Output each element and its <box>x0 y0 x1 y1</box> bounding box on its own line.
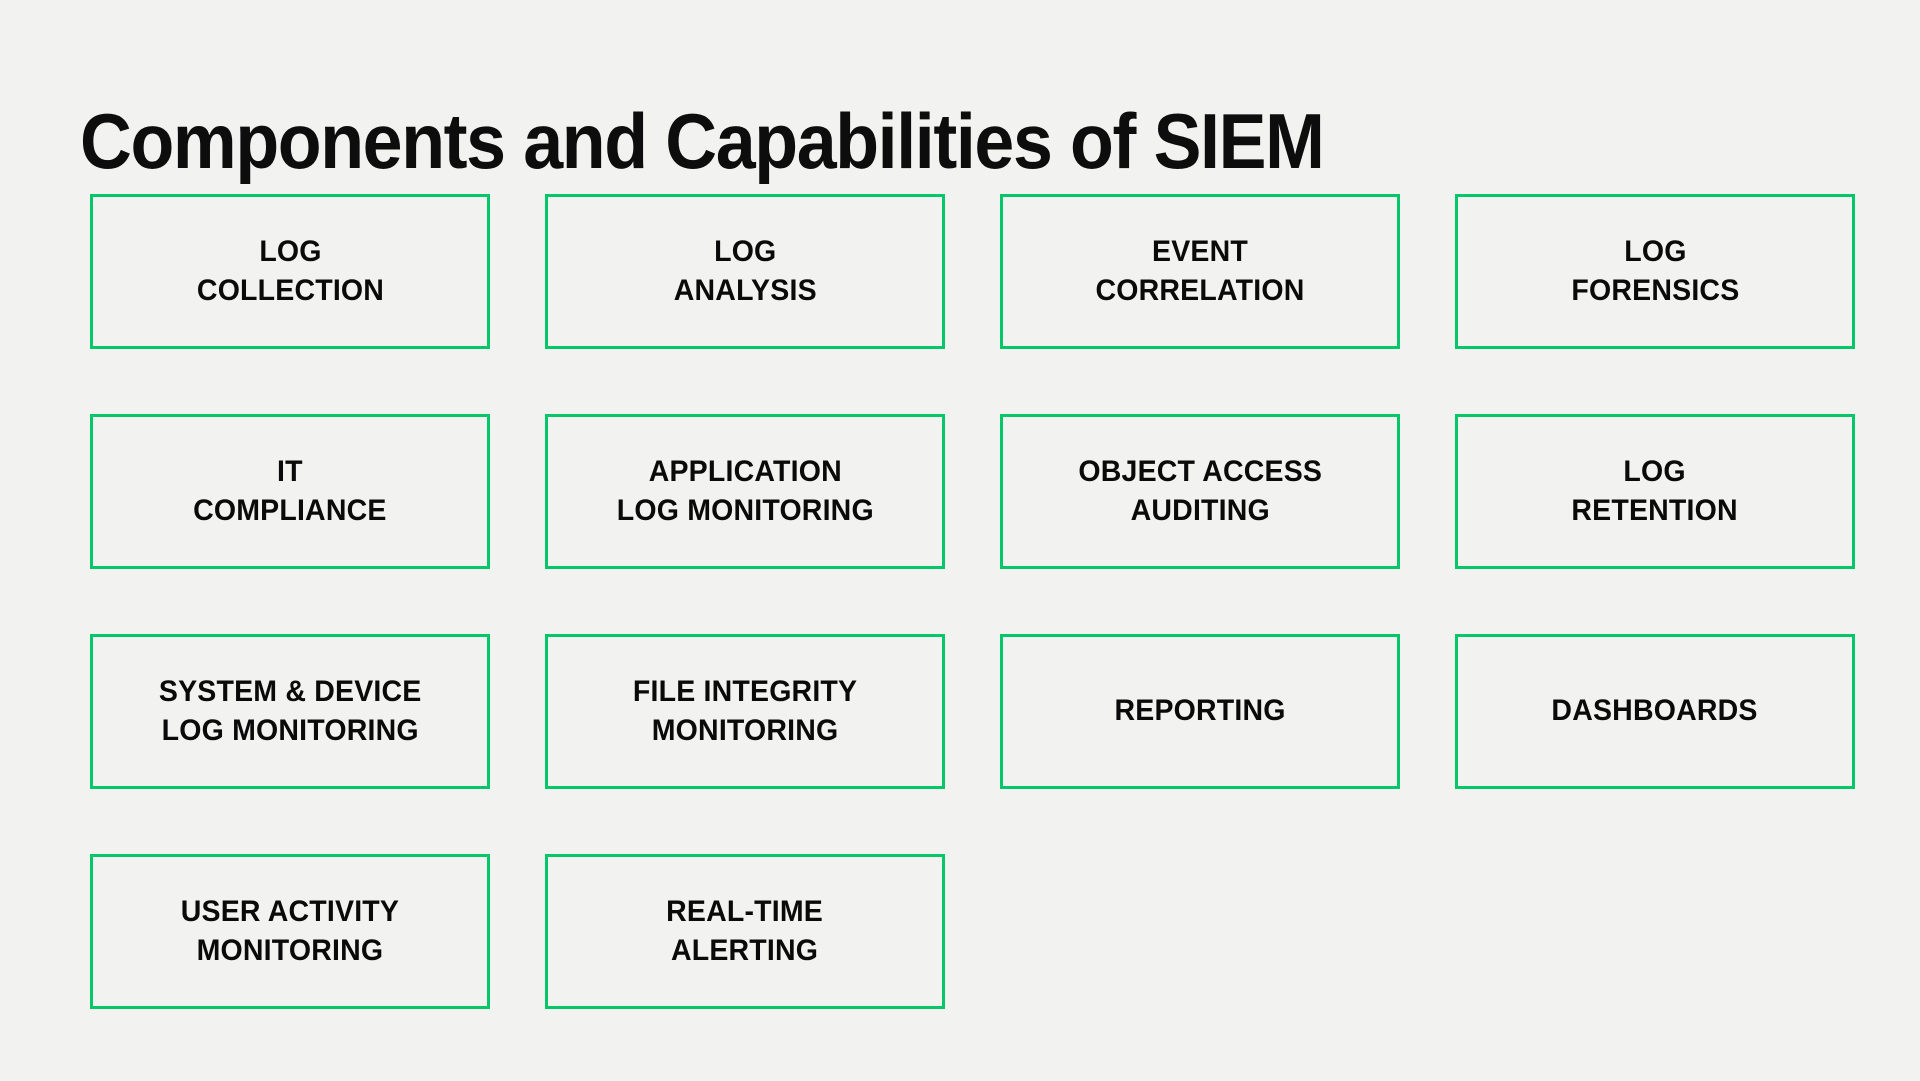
capability-box-dashboards[interactable]: DASHBOARDS <box>1455 634 1855 789</box>
capability-box-user-activity-monitoring[interactable]: USER ACTIVITY MONITORING <box>90 854 490 1009</box>
capability-label: DASHBOARDS <box>1552 692 1758 730</box>
capability-box-system-and-device-log-monitoring[interactable]: SYSTEM & DEVICE LOG MONITORING <box>90 634 490 789</box>
grid-empty-slot <box>1000 854 1400 1009</box>
capability-label: LOG RETENTION <box>1572 453 1738 530</box>
capability-box-event-correlation[interactable]: EVENT CORRELATION <box>1000 194 1400 349</box>
capability-label: IT COMPLIANCE <box>193 453 386 530</box>
capability-box-object-access-auditing[interactable]: OBJECT ACCESS AUDITING <box>1000 414 1400 569</box>
capability-label: LOG ANALYSIS <box>673 233 816 310</box>
capability-label: USER ACTIVITY MONITORING <box>181 893 399 970</box>
capability-box-log-analysis[interactable]: LOG ANALYSIS <box>545 194 945 349</box>
capability-label: LOG FORENSICS <box>1571 233 1739 310</box>
capability-box-file-integrity-monitoring[interactable]: FILE INTEGRITY MONITORING <box>545 634 945 789</box>
capability-label: REPORTING <box>1114 692 1285 730</box>
capability-label: FILE INTEGRITY MONITORING <box>633 673 857 750</box>
capability-box-application-log-monitoring[interactable]: APPLICATION LOG MONITORING <box>545 414 945 569</box>
capability-label: OBJECT ACCESS AUDITING <box>1078 453 1322 530</box>
capability-box-log-retention[interactable]: LOG RETENTION <box>1455 414 1855 569</box>
capability-box-real-time-alerting[interactable]: REAL-TIME ALERTING <box>545 854 945 1009</box>
capability-box-it-compliance[interactable]: IT COMPLIANCE <box>90 414 490 569</box>
siem-components-diagram: Components and Capabilities of SIEM LOG … <box>0 0 1920 1081</box>
capability-box-reporting[interactable]: REPORTING <box>1000 634 1400 789</box>
capability-box-log-collection[interactable]: LOG COLLECTION <box>90 194 490 349</box>
capability-label: APPLICATION LOG MONITORING <box>616 453 873 530</box>
page-title: Components and Capabilities of SIEM <box>80 98 1323 185</box>
capability-grid: LOG COLLECTION LOG ANALYSIS EVENT CORREL… <box>90 194 1850 1009</box>
capability-label: REAL-TIME ALERTING <box>667 893 824 970</box>
capability-label: EVENT CORRELATION <box>1096 233 1305 310</box>
capability-label: LOG COLLECTION <box>196 233 383 310</box>
grid-empty-slot <box>1455 854 1855 1009</box>
capability-box-log-forensics[interactable]: LOG FORENSICS <box>1455 194 1855 349</box>
capability-label: SYSTEM & DEVICE LOG MONITORING <box>159 673 422 750</box>
